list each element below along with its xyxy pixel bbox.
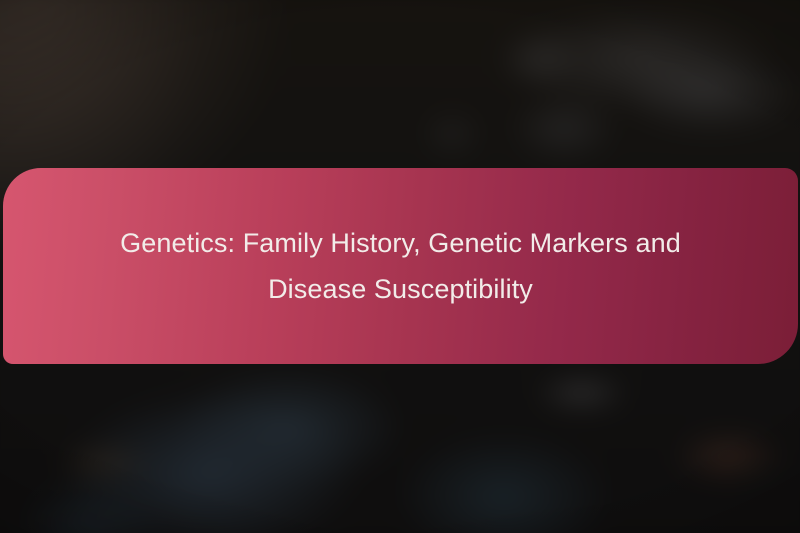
title-line-1: Genetics: Family History, Genetic Marker… <box>49 220 752 266</box>
title-line-2: Disease Susceptibility <box>49 266 752 312</box>
slide-canvas: Genetics: Family History, Genetic Marker… <box>0 0 800 533</box>
page-title: Genetics: Family History, Genetic Marker… <box>49 220 752 312</box>
title-banner: Genetics: Family History, Genetic Marker… <box>3 168 798 364</box>
